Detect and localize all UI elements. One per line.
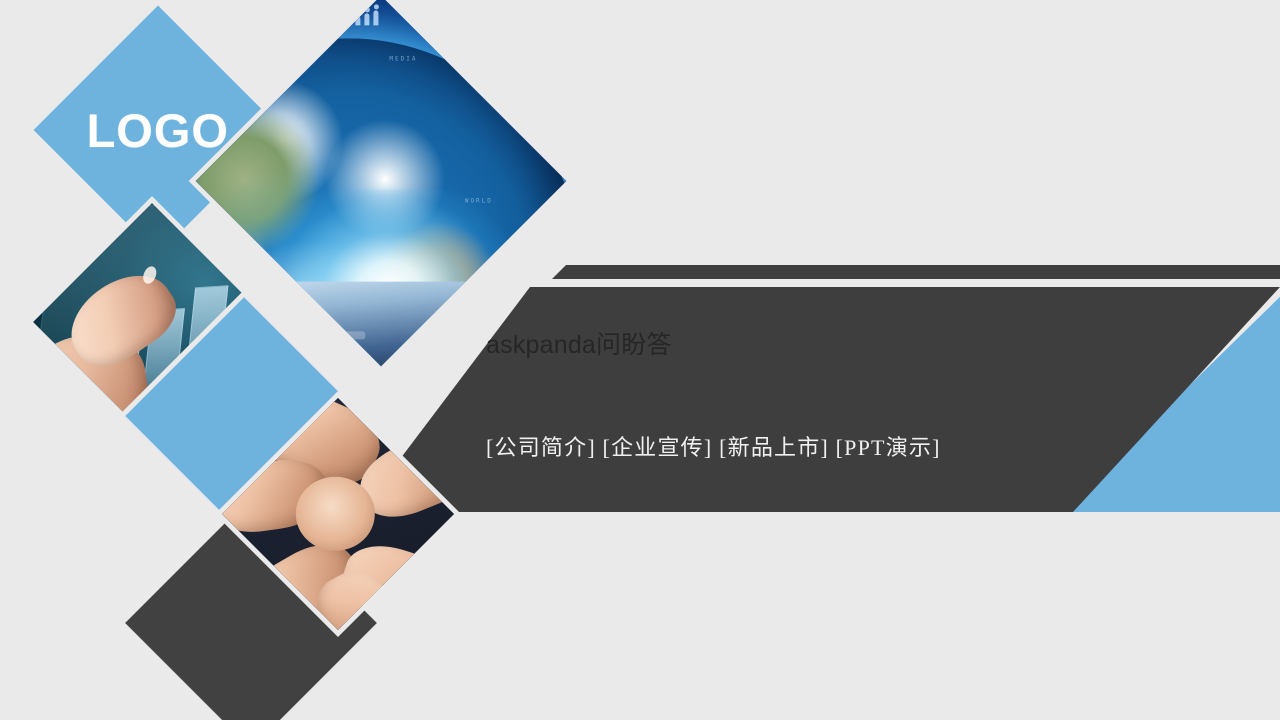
thumb xyxy=(45,389,105,440)
people-figure-icon xyxy=(356,9,379,25)
logo-text: LOGO xyxy=(87,106,229,153)
title-block: askpanda问盼答 [公司简介] [企业宣传] [新品上市] [PPT演示] xyxy=(486,330,1106,462)
hud-label-world: WORLD xyxy=(465,198,493,205)
page-subtitle: [公司简介] [企业宣传] [新品上市] [PPT演示] xyxy=(486,360,1106,462)
hud-label-media: MEDIA xyxy=(389,55,417,62)
presentation-slide: askpanda问盼答 [公司简介] [企业宣传] [新品上市] [PPT演示]… xyxy=(0,0,1280,720)
top-accent-stripe xyxy=(552,265,1280,279)
hands-meeting-point xyxy=(296,477,375,550)
page-title: askpanda问盼答 xyxy=(486,330,1106,360)
